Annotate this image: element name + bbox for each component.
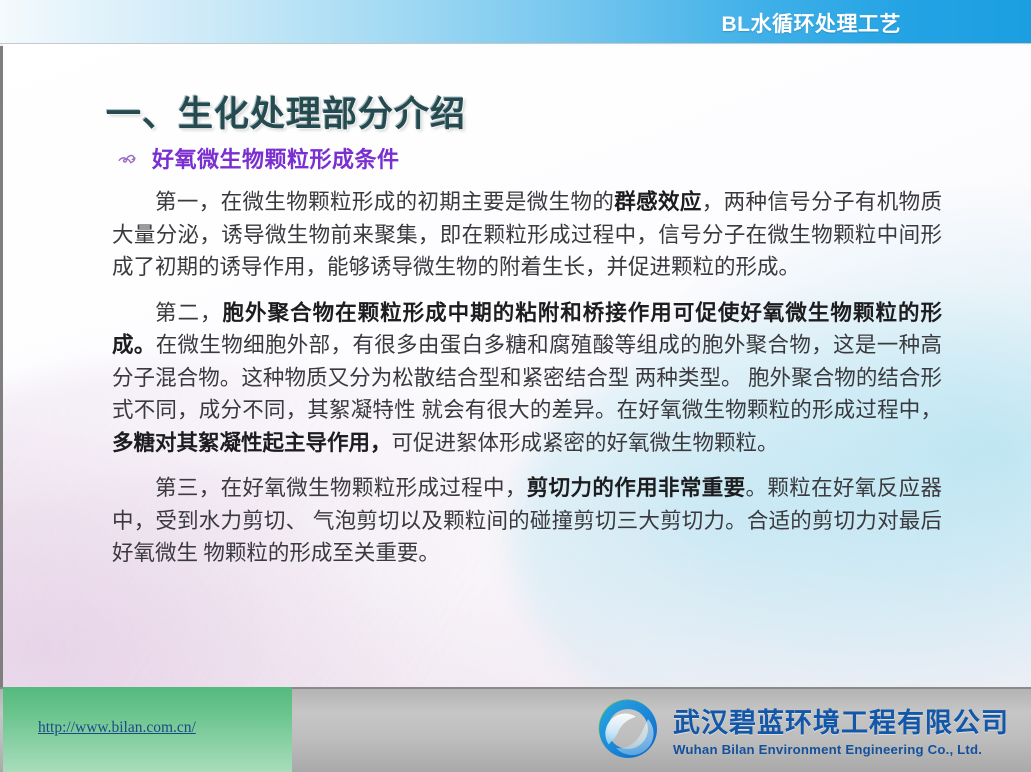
slide-canvas: BL水循环处理工艺 一、生化处理部分介绍 好氧微生物颗粒形成条件 第一，在微生物… <box>0 0 1031 772</box>
paragraph-1: 第一，在微生物颗粒形成的初期主要是微生物的群感效应，两种信号分子有机物质大量分泌… <box>112 186 942 284</box>
text-run: 可促进絮体形成紧密的好氧微生物颗粒。 <box>392 431 779 455</box>
company-name-cn: 武汉碧蓝环境工程有限公司 <box>673 701 1009 740</box>
company-brand: 武汉碧蓝环境工程有限公司 Wuhan Bilan Environment Eng… <box>596 697 1009 761</box>
header-title: BL水循环处理工艺 <box>722 8 902 38</box>
paragraph-3: 第三，在好氧微生物颗粒形成过程中，剪切力的作用非常重要。颗粒在好氧反应器中，受到… <box>112 472 942 570</box>
footer-website-link[interactable]: http://www.bilan.com.cn/ <box>38 719 196 737</box>
emphasis-run: 群感效应 <box>614 190 701 214</box>
text-run: 第一，在微生物颗粒形成的初期主要是微生物的 <box>155 190 614 214</box>
header-divider <box>0 43 1031 46</box>
text-run: 第二， <box>155 301 223 325</box>
subtitle-text: 好氧微生物颗粒形成条件 <box>152 142 400 174</box>
emphasis-run: 多糖对其絮凝性起主导作用， <box>112 431 392 455</box>
slide-left-border <box>0 0 3 772</box>
company-name-group: 武汉碧蓝环境工程有限公司 Wuhan Bilan Environment Eng… <box>673 701 1009 757</box>
bilan-swirl-logo-icon <box>596 697 660 761</box>
header-bar: BL水循环处理工艺 <box>0 0 1031 43</box>
subtitle-row: 好氧微生物颗粒形成条件 <box>116 142 400 174</box>
company-name-en: Wuhan Bilan Environment Engineering Co.,… <box>673 742 1009 757</box>
text-run: 第三，在好氧微生物颗粒形成过程中， <box>155 476 527 500</box>
text-run: 在微生物细胞外部，有很多由蛋白多糖和腐殖酸等组成的胞外聚合物，这是一种高分子混合… <box>112 333 942 422</box>
body-text-block: 第一，在微生物颗粒形成的初期主要是微生物的群感效应，两种信号分子有机物质大量分泌… <box>112 186 942 583</box>
emphasis-run: 剪切力的作用非常重要 <box>527 476 746 500</box>
paragraph-2: 第二，胞外聚合物在颗粒形成中期的粘附和桥接作用可促使好氧微生物颗粒的形成。在微生… <box>112 297 942 460</box>
swirl-bullet-icon <box>116 147 138 169</box>
page-title: 一、生化处理部分介绍 <box>106 86 466 137</box>
footer-bar: http://www.bilan.com.cn/ <box>0 687 1031 772</box>
